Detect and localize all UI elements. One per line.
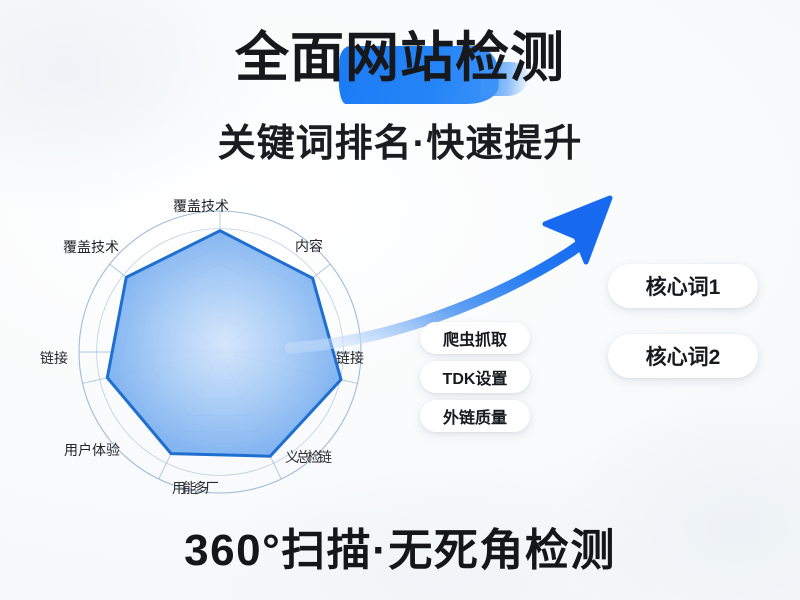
headline-block: 全面网站检测 [0, 28, 800, 88]
keyword-pill-2[interactable]: 核心词2 [608, 334, 758, 378]
keyword-pill-1[interactable]: 核心词1 [608, 264, 758, 308]
tag-pill-tdk[interactable]: TDK设置 [420, 361, 530, 393]
footer-tagline: 360°扫描·无死角检测 [0, 514, 800, 578]
title-part-suffix: 检测 [455, 28, 565, 88]
radar-axis-label-upper-right: 内容 [295, 239, 323, 253]
radar-axis-label-bottom: 用能多厂 [172, 481, 216, 495]
radar-axis-label-right: 链接 [336, 351, 364, 365]
radar-chart: 覆盖技术 内容 链接 义总检链 用能多厂 用户体验 覆盖技术 链接 [20, 185, 420, 510]
tag-pill-crawl[interactable]: 爬虫抓取 [420, 322, 530, 354]
radar-series-polygon [107, 231, 341, 457]
radar-axis-label-left: 链接 [40, 351, 68, 365]
page-subtitle: 关键词排名·快速提升 [0, 112, 800, 167]
tag-pill-backlinks[interactable]: 外链质量 [420, 400, 530, 432]
radar-axis-label-upper-left: 覆盖技术 [63, 240, 119, 254]
title-part-prefix: 全面 [235, 28, 345, 88]
title-part-highlight: 网站 [345, 28, 455, 88]
radar-axis-label-lower-right: 义总检链 [285, 450, 329, 464]
poster-canvas: 全面网站检测 关键词排名·快速提升 覆盖技术 内容 链接 [0, 0, 800, 600]
radar-axis-label-top: 覆盖技术 [173, 199, 229, 213]
radar-axis-label-lower-left: 用户体验 [64, 443, 120, 457]
page-title: 全面网站检测 [235, 28, 565, 88]
radar-chart-svg [20, 185, 420, 510]
